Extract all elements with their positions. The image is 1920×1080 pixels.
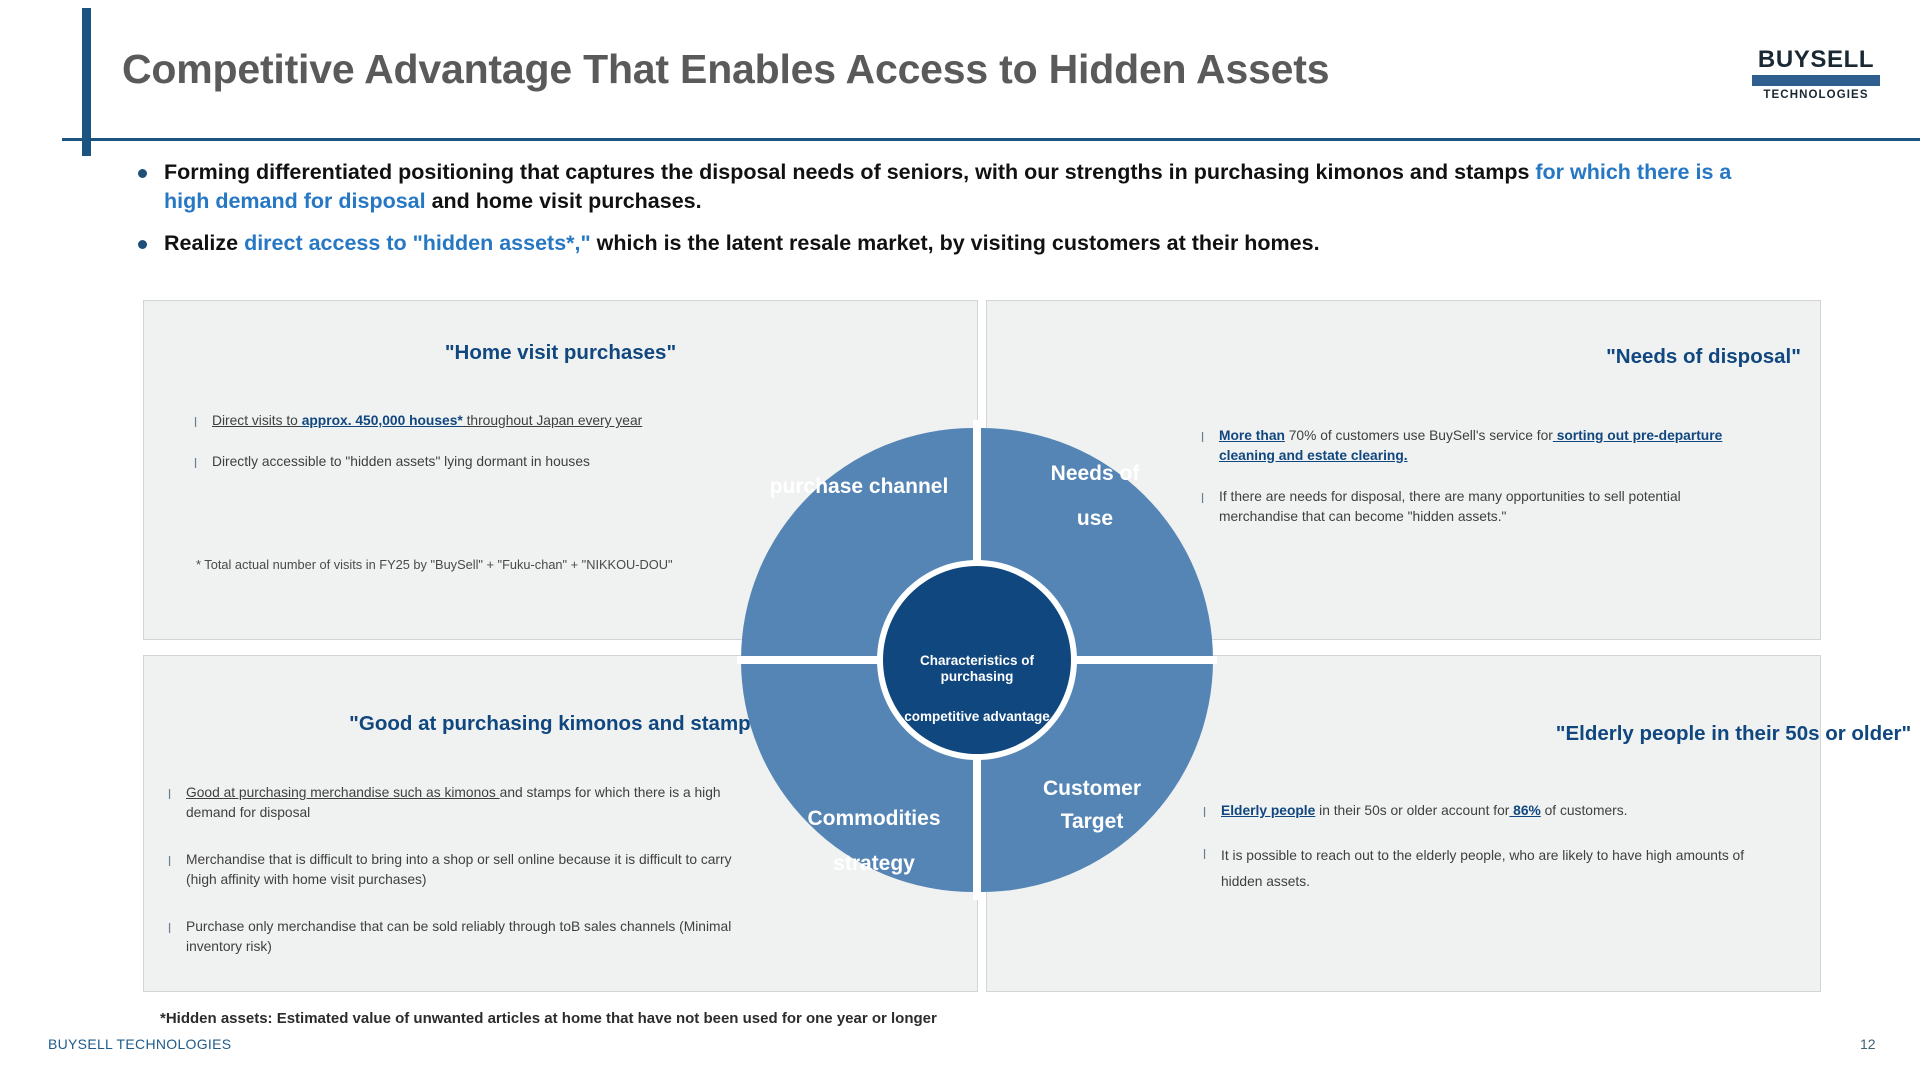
logo-subtext: TECHNOLOGIES: [1752, 89, 1880, 101]
tick-icon: l: [194, 413, 197, 433]
panel-heading-top-right: "Needs of disposal": [987, 345, 1920, 369]
list-item-text: Elderly people in their 50s or older acc…: [1221, 803, 1627, 818]
list-item: l Purchase only merchandise that can be …: [166, 917, 766, 956]
list-item-text: More than 70% of customers use BuySell's…: [1219, 428, 1722, 463]
panel-bottom-left-bullets: l Good at purchasing merchandise such as…: [166, 783, 766, 984]
lead-bullet-1: Forming differentiated positioning that …: [136, 158, 1756, 215]
quadrant-label-needs-of-use-line2: use: [1077, 507, 1113, 530]
logo-wordmark: BUYSELL: [1752, 48, 1880, 72]
header-divider: [62, 138, 1920, 141]
quadrant-label-customer-target-line2: Target: [1061, 810, 1124, 833]
buysell-logo: BUYSELL TECHNOLOGIES: [1752, 48, 1880, 101]
quadrant-label-needs-of-use-line1: Needs of: [1051, 462, 1141, 485]
global-footnote: *Hidden assets: Estimated value of unwan…: [160, 1010, 937, 1027]
logo-bar: [1752, 75, 1880, 86]
list-item-text: It is possible to reach out to the elder…: [1221, 848, 1744, 890]
lead-bullet-1-text: Forming differentiated positioning that …: [164, 160, 1731, 213]
list-item-text: Purchase only merchandise that can be so…: [186, 919, 731, 954]
page-title: Competitive Advantage That Enables Acces…: [122, 46, 1329, 93]
lead-bullet-2: Realize direct access to "hidden assets*…: [136, 229, 1756, 258]
list-item: l Good at purchasing merchandise such as…: [166, 783, 766, 822]
panel-top-right-bullets: l More than 70% of customers use BuySell…: [1199, 426, 1759, 548]
title-accent-bar: [82, 8, 91, 156]
list-item-text: Direct visits to approx. 450,000 houses*…: [212, 413, 642, 428]
lead-bullet-2-text: Realize direct access to "hidden assets*…: [164, 231, 1320, 255]
list-item: l Directly accessible to "hidden assets"…: [192, 452, 732, 472]
slide-header: Competitive Advantage That Enables Acces…: [0, 0, 1920, 140]
core-label-line2: purchasing: [941, 669, 1014, 684]
tick-icon: l: [168, 785, 171, 805]
panel-top-left-bullets: l Direct visits to approx. 450,000 house…: [192, 411, 732, 492]
core-label-line1: Characteristics of: [920, 653, 1035, 668]
lead-bullet-list: Forming differentiated positioning that …: [136, 158, 1756, 272]
page-number: 12: [1860, 1036, 1876, 1052]
bullet-dot-icon: [138, 169, 147, 178]
list-item: l Elderly people in their 50s or older a…: [1201, 801, 1771, 821]
list-item: l It is possible to reach out to the eld…: [1201, 843, 1771, 897]
quadrant-label-customer-target-line1: Customer: [1043, 777, 1141, 800]
panel-bottom-right-bullets: l Elderly people in their 50s or older a…: [1201, 801, 1771, 918]
tick-icon: l: [168, 919, 171, 939]
bullet-dot-icon: [138, 240, 147, 249]
list-item: l Merchandise that is difficult to bring…: [166, 850, 766, 889]
quadrant-label-commodities-line2: strategy: [833, 852, 915, 875]
tick-icon: l: [168, 852, 171, 872]
list-item: l If there are needs for disposal, there…: [1199, 487, 1759, 526]
list-item-text: Directly accessible to "hidden assets" l…: [212, 454, 590, 469]
list-item: l Direct visits to approx. 450,000 house…: [192, 411, 732, 431]
quadrant-label-purchase-channel: purchase channel: [770, 475, 949, 498]
purchasing-characteristics-diagram: purchase channel Needs of use Commoditie…: [737, 420, 1217, 900]
tick-icon: l: [194, 454, 197, 474]
panel-top-left-footnote: * Total actual number of visits in FY25 …: [196, 556, 725, 574]
list-item: l More than 70% of customers use BuySell…: [1199, 426, 1759, 465]
quadrant-label-commodities-line1: Commodities: [807, 807, 940, 830]
footer-brand: BUYSELL TECHNOLOGIES: [48, 1036, 231, 1052]
core-label-line3: competitive advantage: [904, 709, 1050, 724]
list-item-text: If there are needs for disposal, there a…: [1219, 489, 1681, 524]
list-item-text: Good at purchasing merchandise such as k…: [186, 785, 721, 820]
list-item-text: Merchandise that is difficult to bring i…: [186, 852, 732, 887]
